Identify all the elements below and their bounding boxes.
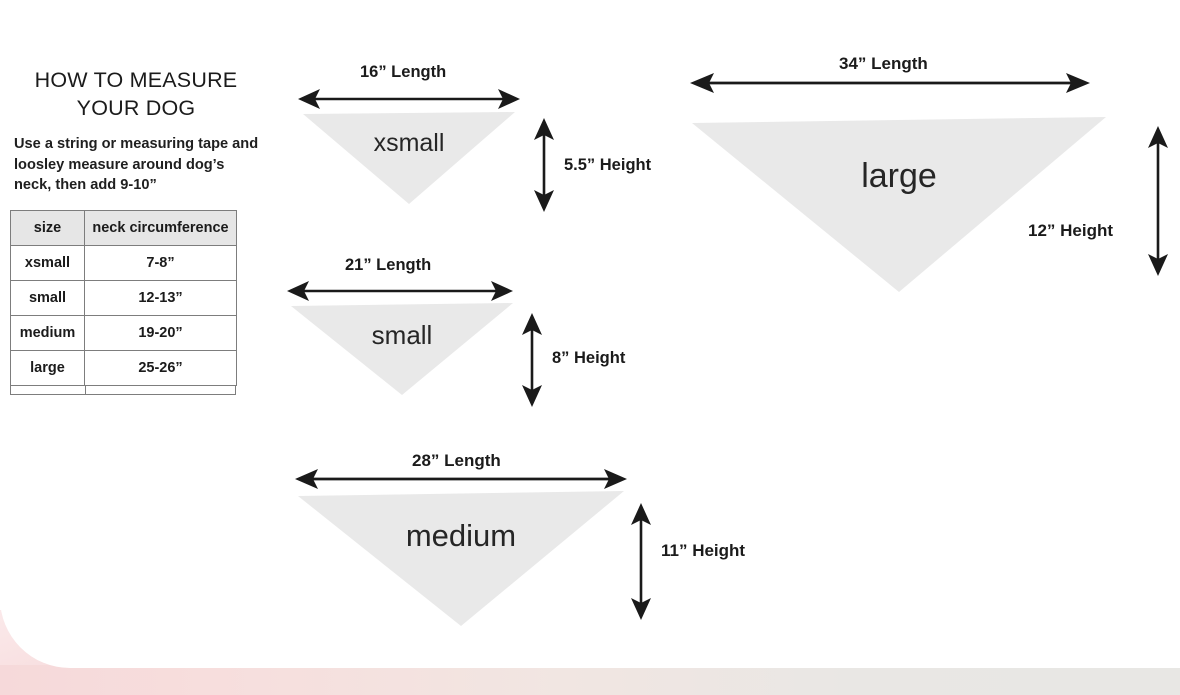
size-chart-page: HOW TO MEASURE YOUR DOG Use a string or … [0, 0, 1180, 695]
height-label-large: 12” Height [1028, 221, 1113, 241]
length-arrow-large [690, 72, 1090, 94]
length-label-large: 34” Length [839, 54, 928, 74]
length-label-medium: 28” Length [412, 451, 501, 471]
triangle-medium [298, 491, 624, 626]
height-arrow-large [1147, 126, 1169, 276]
size-name-large: large [692, 157, 1106, 196]
length-arrow-medium [295, 468, 627, 490]
bandana-group-large: 34” Length large 12” Height [0, 0, 1180, 320]
size-name-medium: medium [298, 518, 624, 554]
pink-bottom-band [0, 665, 1180, 695]
height-label-medium: 11” Height [661, 541, 745, 561]
height-arrow-medium [630, 503, 652, 620]
triangle-large [692, 117, 1106, 292]
